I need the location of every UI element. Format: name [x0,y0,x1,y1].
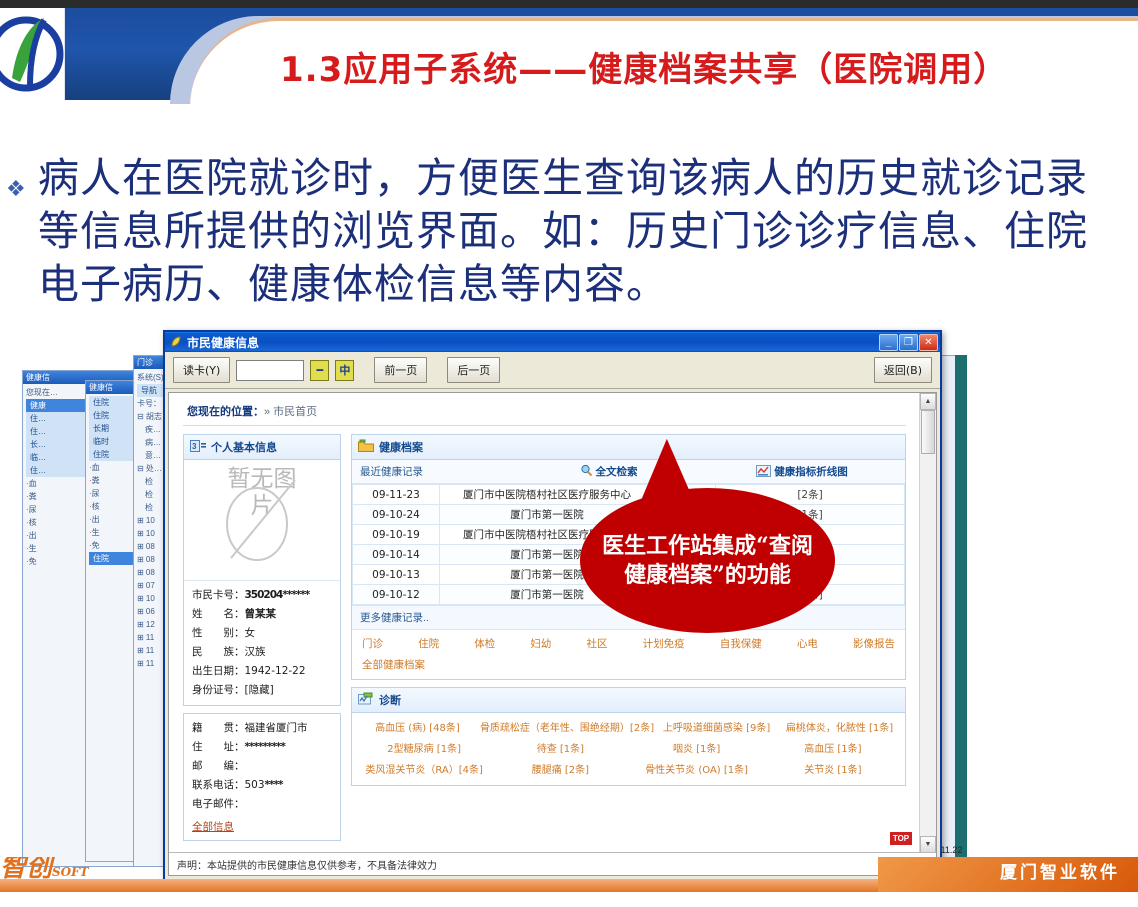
category-link-inpatient[interactable]: 住院 [418,636,439,651]
field-row: 出生日期：1942-12-22 [192,662,332,681]
health-chart-link[interactable]: 健康指标折线图 [707,464,897,479]
search-icon [580,466,596,478]
prev-page-button[interactable]: 前一页 [374,357,427,383]
diagnosis-item[interactable]: 骨质疏松症（老年性、围绝经期）[2条] [479,716,655,737]
breadcrumb-label: 您现在的位置： [187,406,264,418]
scroll-down-arrow[interactable]: ▼ [920,836,936,853]
line-chart-icon [756,466,774,478]
diagnosis-item[interactable]: 咽炎 [1条] [629,737,765,758]
table-row[interactable]: 09-11-23 厦门市中医院梧村社区医疗服务中心 门诊 [2条] [353,485,905,505]
svg-text:3: 3 [192,442,197,451]
cell-date: 09-10-19 [353,525,440,545]
card-number-input[interactable] [236,360,304,381]
read-card-button[interactable]: 读卡(Y) [173,357,230,383]
health-chart-label: 健康指标折线图 [774,466,848,478]
field-row: 市民卡号：350204****** [192,586,332,605]
diagnosis-list: 高血压 (病) [48条] 骨质疏松症（老年性、围绝经期）[2条] 上呼吸道细菌… [352,713,905,785]
diagnosis-item[interactable]: 上呼吸道细菌感染 [9条] [655,716,778,737]
category-link-selfcare[interactable]: 自我保健 [720,636,762,651]
photo-placeholder: 暂无图片 [217,464,307,576]
slide-header: 1.3应用子系统——健康档案共享（医院调用） [0,0,1138,112]
field-row: 民 族：汉族 [192,643,332,662]
personal-info-header-text: 个人基本信息 [211,439,277,455]
app-titlebar[interactable]: 市民健康信息 _ ❐ ✕ [165,332,940,352]
id-card-icon: 3 [190,440,206,455]
folder-icon [358,439,374,455]
category-link-maternal[interactable]: 妇幼 [530,636,551,651]
app-client-area: 您现在的位置：» 市民首页 3 [168,392,937,876]
diagnosis-icon [358,692,374,708]
app-window[interactable]: 市民健康信息 _ ❐ ✕ 读卡(Y) ━ 中 前一页 后一页 返回(B) 您现在… [163,330,942,894]
slide-title: 1.3应用子系统——健康档案共享（医院调用） [280,42,1130,91]
page-vertical-scrollbar[interactable]: ▲ ▼ [919,393,936,853]
field-row: 籍 贯：福建省厦门市 [192,719,332,738]
diagnosis-row: 高血压 (病) [48条] 骨质疏松症（老年性、围绝经期）[2条] 上呼吸道细菌… [356,716,901,737]
all-records-row: 全部健康档案 [352,653,905,679]
diagnosis-row: 类风湿关节炎（RA）[4条] 腰腿痛 [2条] 骨性关节炎 (OA) [1条] … [356,758,901,779]
cell-date: 09-10-24 [353,505,440,525]
diagnosis-header: 诊断 [352,688,905,713]
personal-fields: 市民卡号：350204****** 姓 名：曾某某 性 别：女 民 族：汉族 出… [184,581,340,705]
callout-balloon: 医生工作站集成“查阅健康档案”的功能 [580,488,835,633]
contact-fields: 籍 贯：福建省厦门市 住 址：********* 邮 编： 联系电话：503**… [184,714,340,840]
field-row: 邮 编： [192,757,332,776]
footer-brand-left-text: 智创 [0,857,52,883]
cell-date: 09-10-13 [353,565,440,585]
personal-info-card: 3 个人基本信息 [183,434,341,706]
contact-info-card: 籍 贯：福建省厦门市 住 址：********* 邮 编： 联系电话：503**… [183,713,341,841]
footer-brand-left: 智创SOFT [0,857,230,881]
patient-photo: 暂无图片 [184,460,340,581]
diagnosis-card: 诊断 高血压 (病) [48条] 骨质疏松症（老年性、围绝经期）[2条] 上呼吸… [351,687,906,786]
field-row: 联系电话：503**** [192,776,332,795]
page-content: 您现在的位置：» 市民首页 3 [169,393,920,851]
slide-footer: 厦门智业软件 智创SOFT [0,857,1138,907]
diagnosis-header-text: 诊断 [379,692,401,708]
slide-body-text: 病人在医院就诊时，方便医生查询该病人的历史就诊记录等信息所提供的浏览界面。如：历… [38,152,1108,311]
all-health-records-link[interactable]: 全部健康档案 [362,659,425,671]
all-info-link[interactable]: 全部信息 [192,821,234,833]
close-button[interactable]: ✕ [919,334,938,351]
back-button[interactable]: 返回(B) [874,357,932,383]
health-record-header-text: 健康档案 [379,439,423,455]
app-leaf-icon [169,335,183,349]
fulltext-search-label: 全文检索 [595,466,637,478]
scroll-thumb[interactable] [921,410,935,454]
diagnosis-item[interactable]: 高血压 [1条] [765,737,901,758]
category-links: 门诊 住院 体检 妇幼 社区 计划免疫 自我保健 心电 影像报告 [352,630,905,653]
personal-info-header: 3 个人基本信息 [184,435,340,460]
diagnosis-item[interactable]: 待查 [1条] [492,737,628,758]
cell-org: 厦门市中医院梧村社区医疗服务中心 [440,485,655,505]
app-toolbar: 读卡(Y) ━ 中 前一页 后一页 返回(B) [165,352,940,389]
footer-white-strip [0,892,1138,907]
diagnosis-row: 2型糖尿病 [1条] 待查 [1条] 咽炎 [1条] 高血压 [1条] [356,737,901,758]
category-link-community[interactable]: 社区 [587,636,608,651]
field-row: 电子邮件： [192,795,332,814]
diagnosis-item[interactable]: 关节炎 [1条] [765,758,901,779]
diagnosis-item[interactable]: 骨性关节炎 (OA) [1条] [629,758,765,779]
left-column: 3 个人基本信息 [183,434,341,848]
callout-text: 医生工作站集成“查阅健康档案”的功能 [580,532,835,590]
category-link-imaging[interactable]: 影像报告 [853,636,895,651]
field-row: 身份证号：[隐藏] [192,681,332,700]
scroll-up-arrow[interactable]: ▲ [920,393,936,410]
cell-date: 09-10-14 [353,545,440,565]
right-column: 健康档案 最近健康记录 全文 [351,434,906,848]
breadcrumb-divider [183,425,906,426]
app-title-text: 市民健康信息 [187,334,259,351]
health-record-subheader: 最近健康记录 全文检索 [352,460,905,484]
diagnosis-item[interactable]: 2型糖尿病 [1条] [356,737,492,758]
category-link-ecg[interactable]: 心电 [797,636,818,651]
bullet-marker: ❖ [6,176,26,202]
category-link-outpatient[interactable]: 门诊 [362,636,383,651]
content-columns: 3 个人基本信息 [169,434,920,848]
health-record-header: 健康档案 [352,435,905,460]
footer-brand-right: 厦门智业软件 [1000,858,1120,883]
diagnosis-item[interactable]: 腰腿痛 [2条] [492,758,628,779]
footer-brand-left-sub: SOFT [52,865,89,879]
cell-date: 09-11-23 [353,485,440,505]
field-row: 住 址：********* [192,738,332,757]
background-window-teal-strip [955,355,967,860]
minimize-button[interactable]: _ [879,334,898,351]
card-minus-button[interactable]: ━ [310,360,329,381]
diagnosis-item[interactable]: 高血压 (病) [48条] [356,716,479,737]
no-photo-slash-icon [223,472,301,568]
diagnosis-item[interactable]: 扁桃体炎，化脓性 [1条] [778,716,901,737]
maximize-button[interactable]: ❐ [899,334,918,351]
card-plus-button[interactable]: 中 [335,360,354,381]
category-link-immunization[interactable]: 计划免疫 [643,636,685,651]
next-page-button[interactable]: 后一页 [447,357,500,383]
diagnosis-item[interactable]: 类风湿关节炎（RA）[4条] [356,758,492,779]
cell-date: 09-10-12 [353,585,440,605]
field-row: 姓 名：曾某某 [192,605,332,624]
field-row: 性 别：女 [192,624,332,643]
recent-records-label: 最近健康记录 [360,464,510,479]
brand-logo-icon [0,8,65,100]
breadcrumb-value[interactable]: » 市民首页 [264,406,317,418]
back-to-top-button[interactable]: TOP [890,832,912,845]
category-link-checkup[interactable]: 体检 [474,636,495,651]
breadcrumb: 您现在的位置：» 市民首页 [169,393,920,425]
